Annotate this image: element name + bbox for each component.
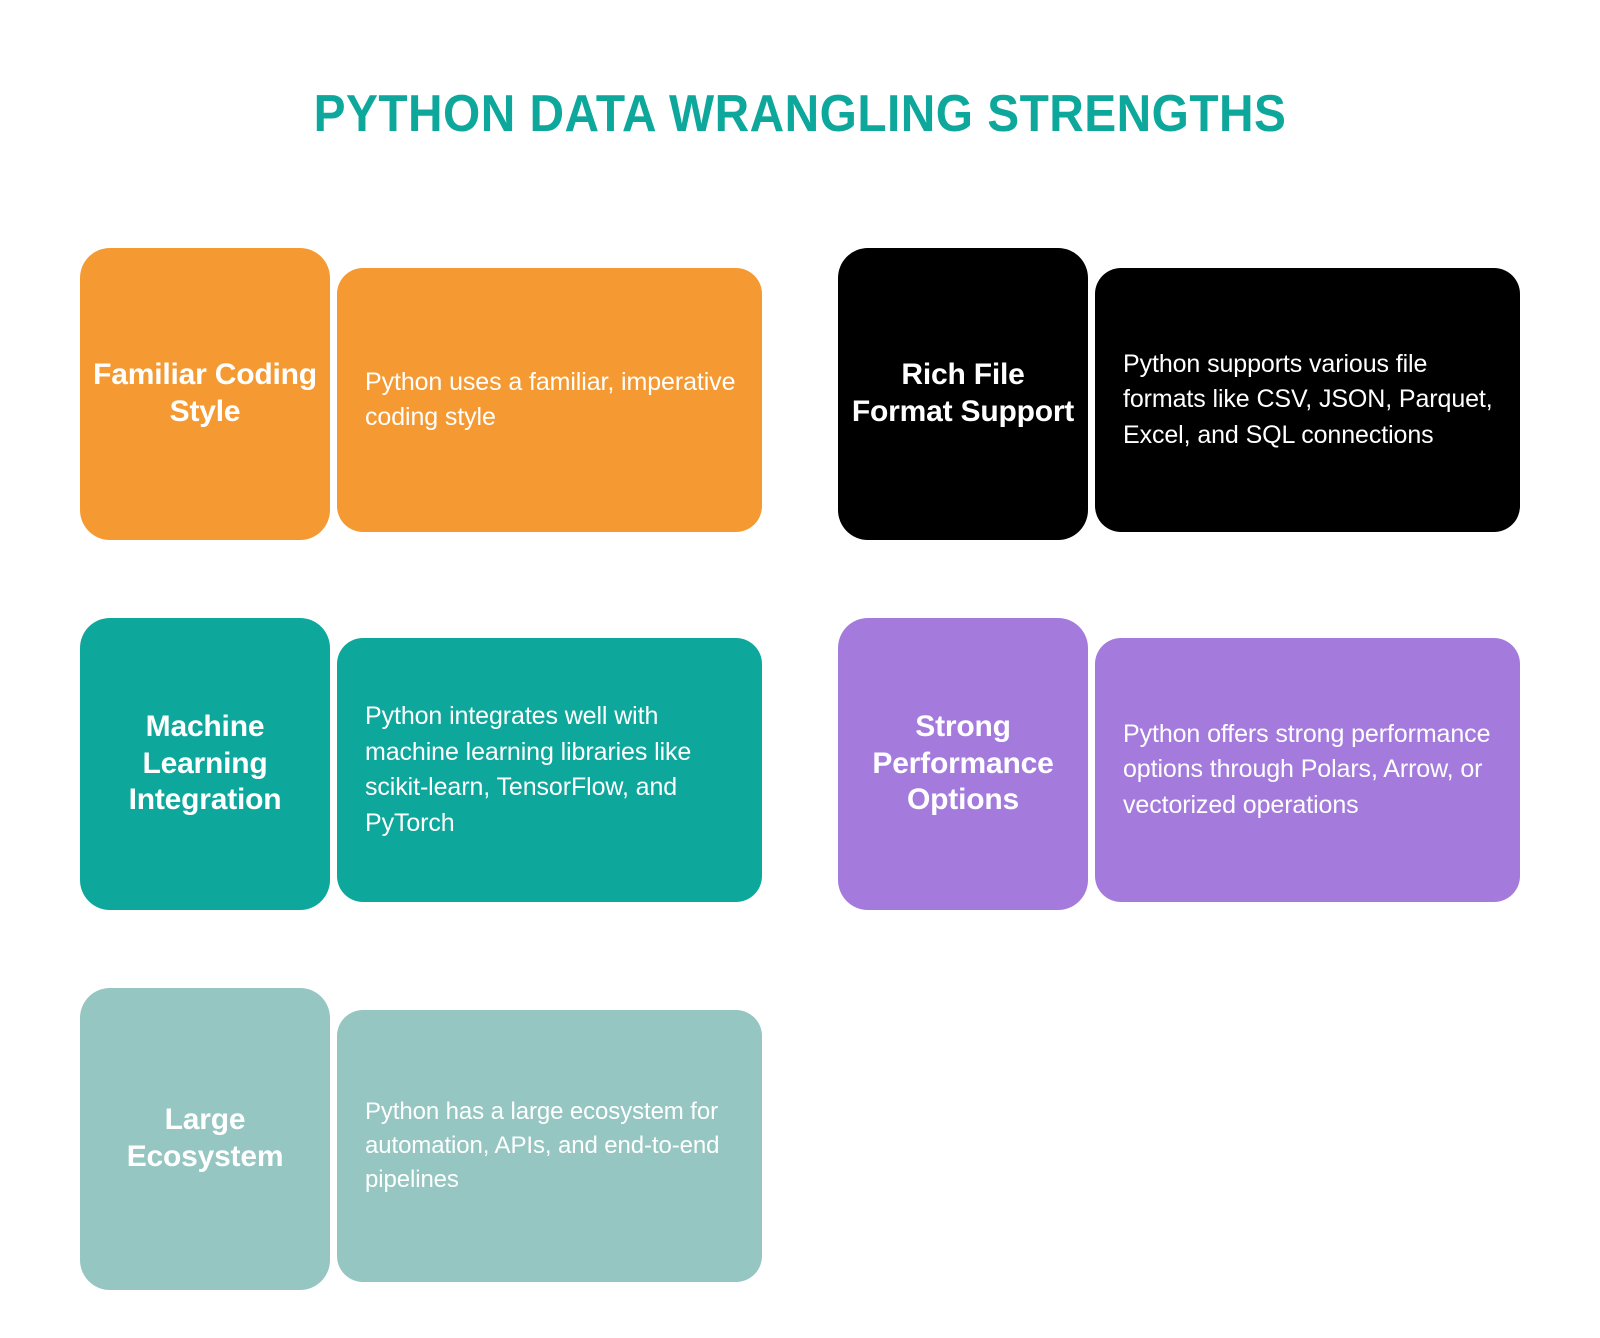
card-description-panel: Python integrates well with machine lear…: [337, 638, 762, 902]
card-description: Python has a large ecosystem for automat…: [365, 1095, 736, 1197]
card-label: Strong Performance Options: [850, 709, 1076, 819]
card-strong-performance-options[interactable]: Strong Performance Options Python offers…: [838, 618, 1520, 910]
card-rich-file-format-support[interactable]: Rich File Format Support Python supports…: [838, 248, 1520, 540]
card-label-panel: Machine Learning Integration: [80, 618, 330, 910]
infographic-page: Python Data Wrangling Strengths Familiar…: [0, 0, 1600, 1338]
card-description: Python uses a familiar, imperative codin…: [365, 365, 736, 436]
card-familiar-coding-style[interactable]: Familiar Coding Style Python uses a fami…: [80, 248, 762, 540]
page-title: Python Data Wrangling Strengths: [64, 84, 1536, 144]
card-label: Rich File Format Support: [850, 357, 1076, 430]
card-description-panel: Python has a large ecosystem for automat…: [337, 1010, 762, 1282]
card-label-panel: Rich File Format Support: [838, 248, 1088, 540]
card-label: Familiar Coding Style: [92, 357, 318, 430]
card-grid: Familiar Coding Style Python uses a fami…: [80, 248, 1520, 1318]
card-label-panel: Strong Performance Options: [838, 618, 1088, 910]
card-label-panel: Familiar Coding Style: [80, 248, 330, 540]
card-large-ecosystem[interactable]: Large Ecosystem Python has a large ecosy…: [80, 988, 762, 1290]
card-label: Machine Learning Integration: [92, 709, 318, 819]
card-description-panel: Python offers strong performance options…: [1095, 638, 1520, 902]
card-description-panel: Python supports various file formats lik…: [1095, 268, 1520, 532]
card-description: Python integrates well with machine lear…: [365, 699, 736, 841]
card-machine-learning-integration[interactable]: Machine Learning Integration Python inte…: [80, 618, 762, 910]
card-description: Python supports various file formats lik…: [1123, 347, 1494, 454]
card-description: Python offers strong performance options…: [1123, 717, 1494, 824]
card-label: Large Ecosystem: [92, 1102, 318, 1175]
card-description-panel: Python uses a familiar, imperative codin…: [337, 268, 762, 532]
card-label-panel: Large Ecosystem: [80, 988, 330, 1290]
